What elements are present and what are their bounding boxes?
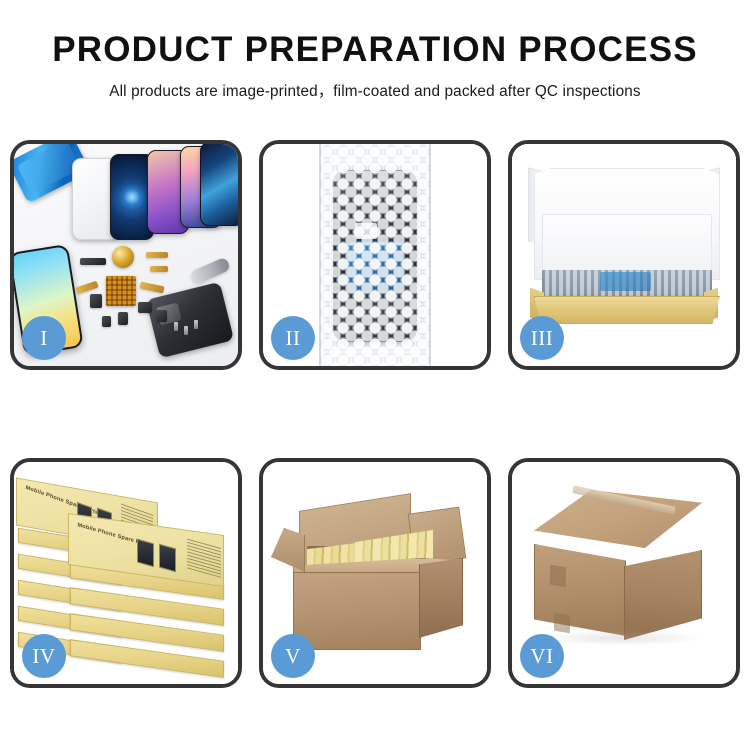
step-badge-1: I [22, 316, 66, 360]
header: PRODUCT PREPARATION PROCESS All products… [0, 30, 750, 101]
product-preparation-infographic: PRODUCT PREPARATION PROCESS All products… [0, 0, 750, 750]
step-badge-4: IV [22, 634, 66, 678]
step-badge-5: V [271, 634, 315, 678]
process-step-panel-4: Mobile Phone Spare Parts Mobile Phone Sp… [10, 458, 242, 688]
process-step-panel-1: I [10, 140, 242, 370]
process-step-panel-2: II [259, 140, 491, 370]
process-step-grid: I II [10, 140, 740, 740]
page-subtitle: All products are image-printed，film-coat… [0, 79, 750, 101]
process-step-panel-6: VI [508, 458, 740, 688]
page-title: PRODUCT PREPARATION PROCESS [0, 30, 750, 70]
process-step-panel-3: III [508, 140, 740, 370]
step-badge-2: II [271, 316, 315, 360]
process-step-panel-5: V [259, 458, 491, 688]
step-badge-6: VI [520, 634, 564, 678]
step-badge-3: III [520, 316, 564, 360]
